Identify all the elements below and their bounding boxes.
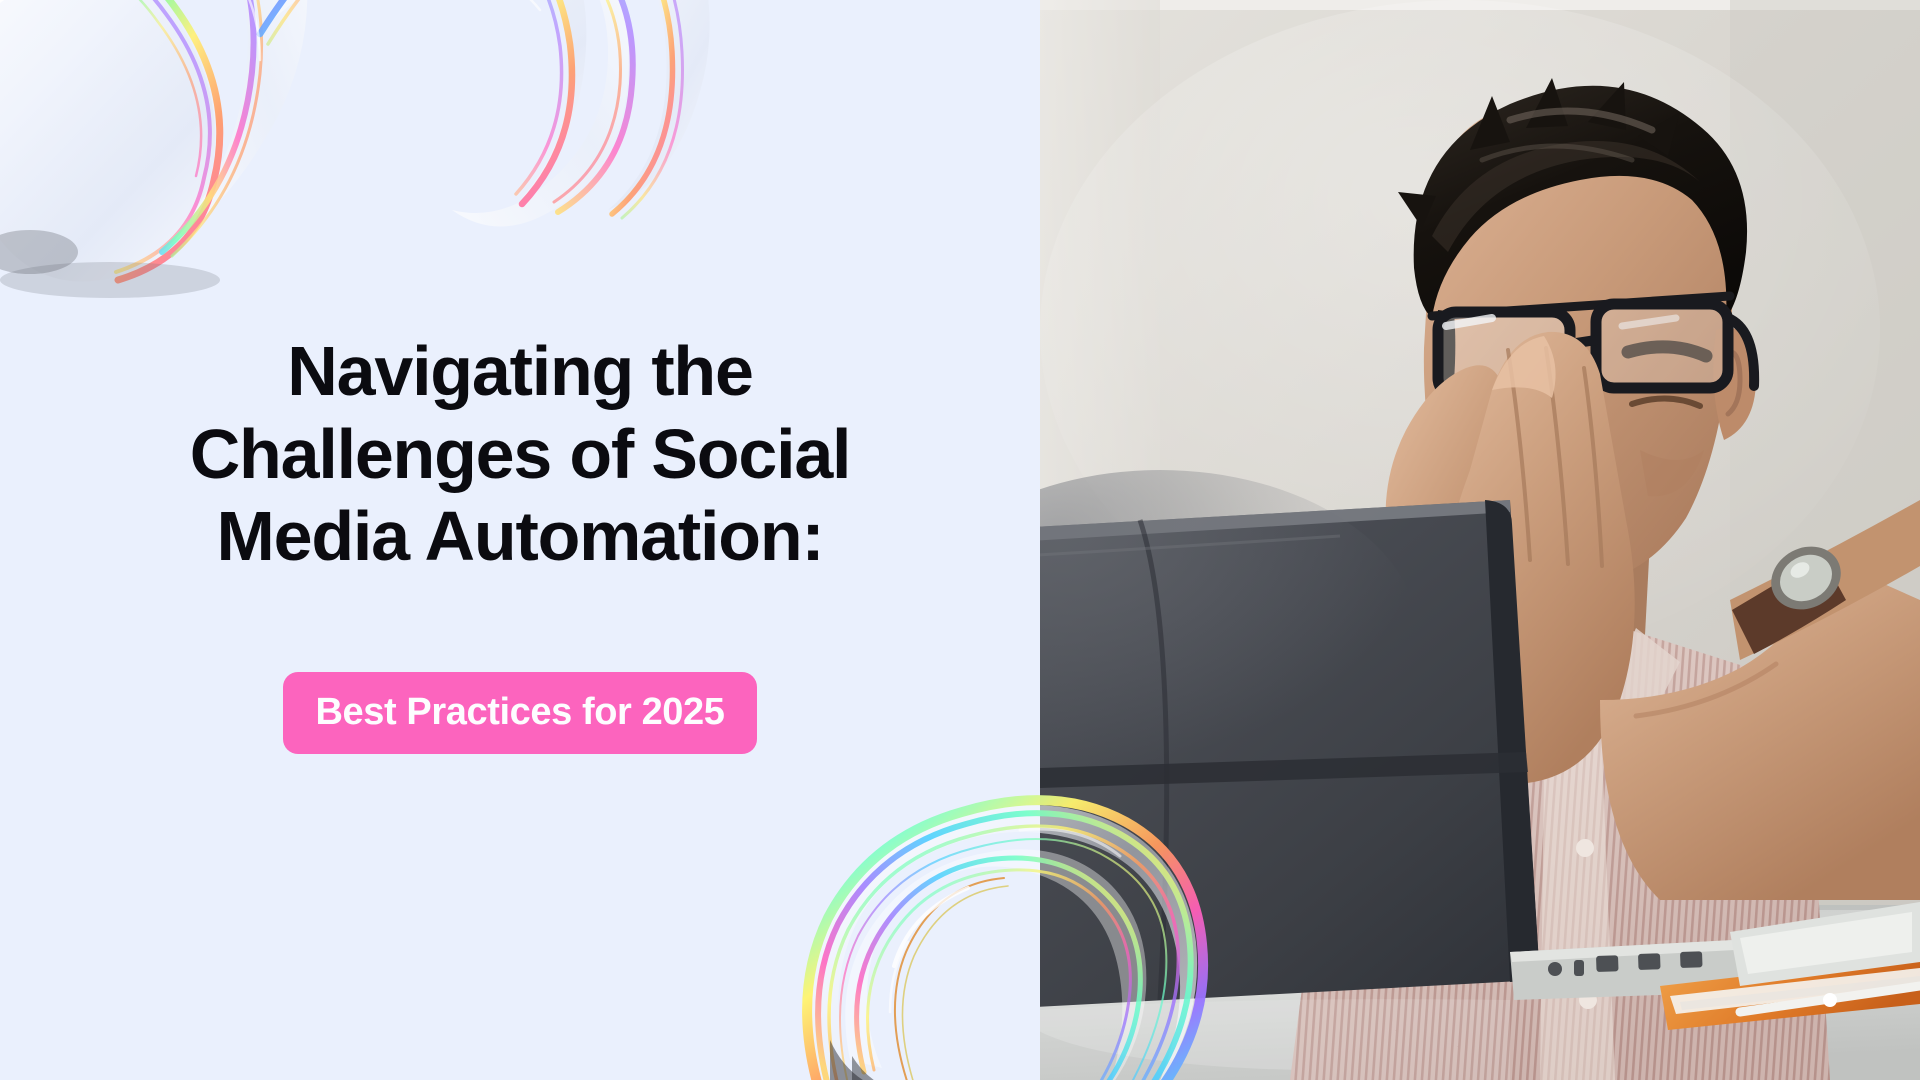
headline-line-3: Media Automation: — [0, 495, 1040, 578]
hero-photo — [1040, 0, 1920, 1080]
page-title: Navigating the Challenges of Social Medi… — [0, 330, 1040, 578]
status-badge: Best Practices for 2025 — [283, 672, 756, 754]
subtitle-badge-row: Best Practices for 2025 — [0, 672, 1040, 754]
headline-line-1: Navigating the — [0, 330, 1040, 413]
photo-illustration — [1040, 0, 1920, 1080]
blog-banner: Navigating the Challenges of Social Medi… — [0, 0, 1920, 1080]
headline-line-2: Challenges of Social — [0, 413, 1040, 496]
